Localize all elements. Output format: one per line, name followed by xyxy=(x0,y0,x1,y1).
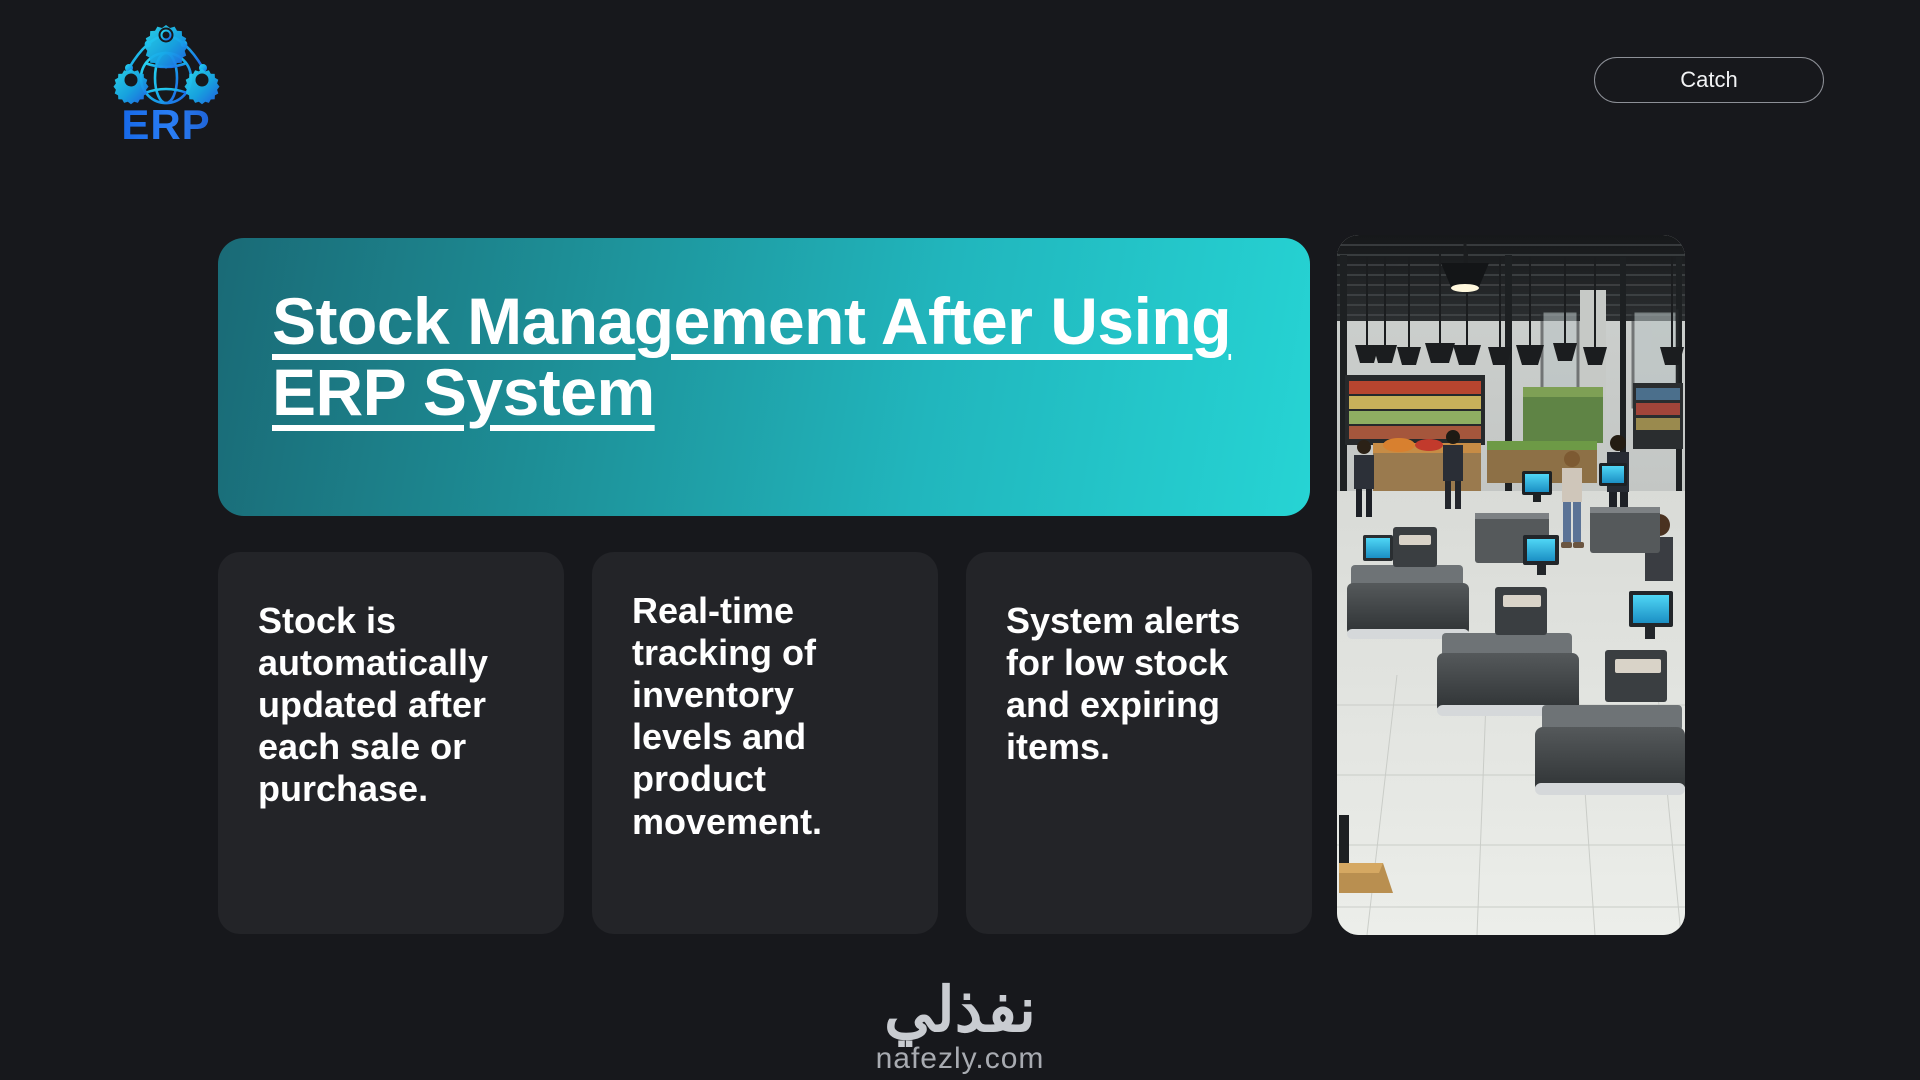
slide-root: ERP Catch Stock Management After Using E… xyxy=(0,0,1920,1080)
erp-logo: ERP xyxy=(96,22,236,150)
supermarket-illustration xyxy=(1337,235,1685,935)
title-banner: Stock Management After Using ERP System xyxy=(218,238,1310,516)
supermarket-photo xyxy=(1337,235,1685,935)
logo-text: ERP xyxy=(121,106,210,144)
page-title: Stock Management After Using ERP System xyxy=(272,286,1256,427)
feature-card-2[interactable]: Real-time tracking of inventory levels a… xyxy=(592,552,938,934)
feature-card-text: System alerts for low stock and expiring… xyxy=(1006,600,1278,768)
brand-latin: nafezly.com xyxy=(876,1044,1045,1074)
main-content: Stock Management After Using ERP System xyxy=(218,238,1310,516)
feature-card-text: Stock is automatically updated after eac… xyxy=(258,600,530,811)
feature-card-list: Stock is automatically updated after eac… xyxy=(218,552,1312,934)
feature-card-text: Real-time tracking of inventory levels a… xyxy=(632,590,904,843)
catch-button-label: Catch xyxy=(1680,67,1737,93)
footer-branding: نفذلي nafezly.com xyxy=(0,980,1920,1074)
feature-card-3[interactable]: System alerts for low stock and expiring… xyxy=(966,552,1312,934)
globe-gears-icon xyxy=(107,22,225,112)
brand-arabic: نفذلي xyxy=(884,980,1036,1042)
feature-card-1[interactable]: Stock is automatically updated after eac… xyxy=(218,552,564,934)
catch-button[interactable]: Catch xyxy=(1594,57,1824,103)
